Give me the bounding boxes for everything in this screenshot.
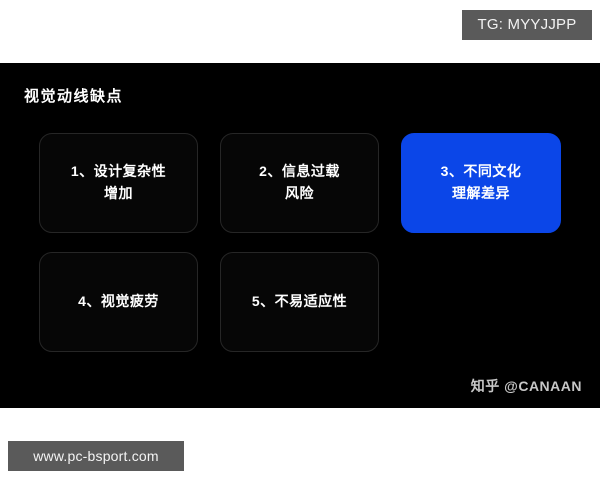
site-url-banner: www.pc-bsport.com (8, 441, 184, 471)
card-grid: 1、设计复杂性增加 2、信息过载风险 3、不同文化理解差异 4、视觉疲劳 5、不… (39, 133, 561, 371)
card-information-overload[interactable]: 2、信息过载风险 (220, 133, 379, 233)
card-label: 4、视觉疲劳 (78, 291, 159, 313)
zhihu-watermark: 知乎 @CANAAN (471, 376, 582, 396)
card-design-complexity[interactable]: 1、设计复杂性增加 (39, 133, 198, 233)
card-label: 1、设计复杂性增加 (71, 161, 166, 204)
card-label: 3、不同文化理解差异 (441, 161, 522, 204)
tg-channel-badge: TG: MYYJJPP (462, 10, 592, 40)
slide-panel: 视觉动线缺点 1、设计复杂性增加 2、信息过载风险 3、不同文化理解差异 4、视… (0, 63, 600, 408)
card-cultural-difference[interactable]: 3、不同文化理解差异 (401, 133, 561, 233)
card-row-top: 1、设计复杂性增加 2、信息过载风险 3、不同文化理解差异 (39, 133, 561, 233)
slide-title: 视觉动线缺点 (24, 85, 123, 106)
card-label: 5、不易适应性 (252, 291, 347, 313)
card-poor-adaptability[interactable]: 5、不易适应性 (220, 252, 379, 352)
card-label: 2、信息过载风险 (259, 161, 340, 204)
card-row-bottom: 4、视觉疲劳 5、不易适应性 (39, 252, 561, 352)
card-visual-fatigue[interactable]: 4、视觉疲劳 (39, 252, 198, 352)
